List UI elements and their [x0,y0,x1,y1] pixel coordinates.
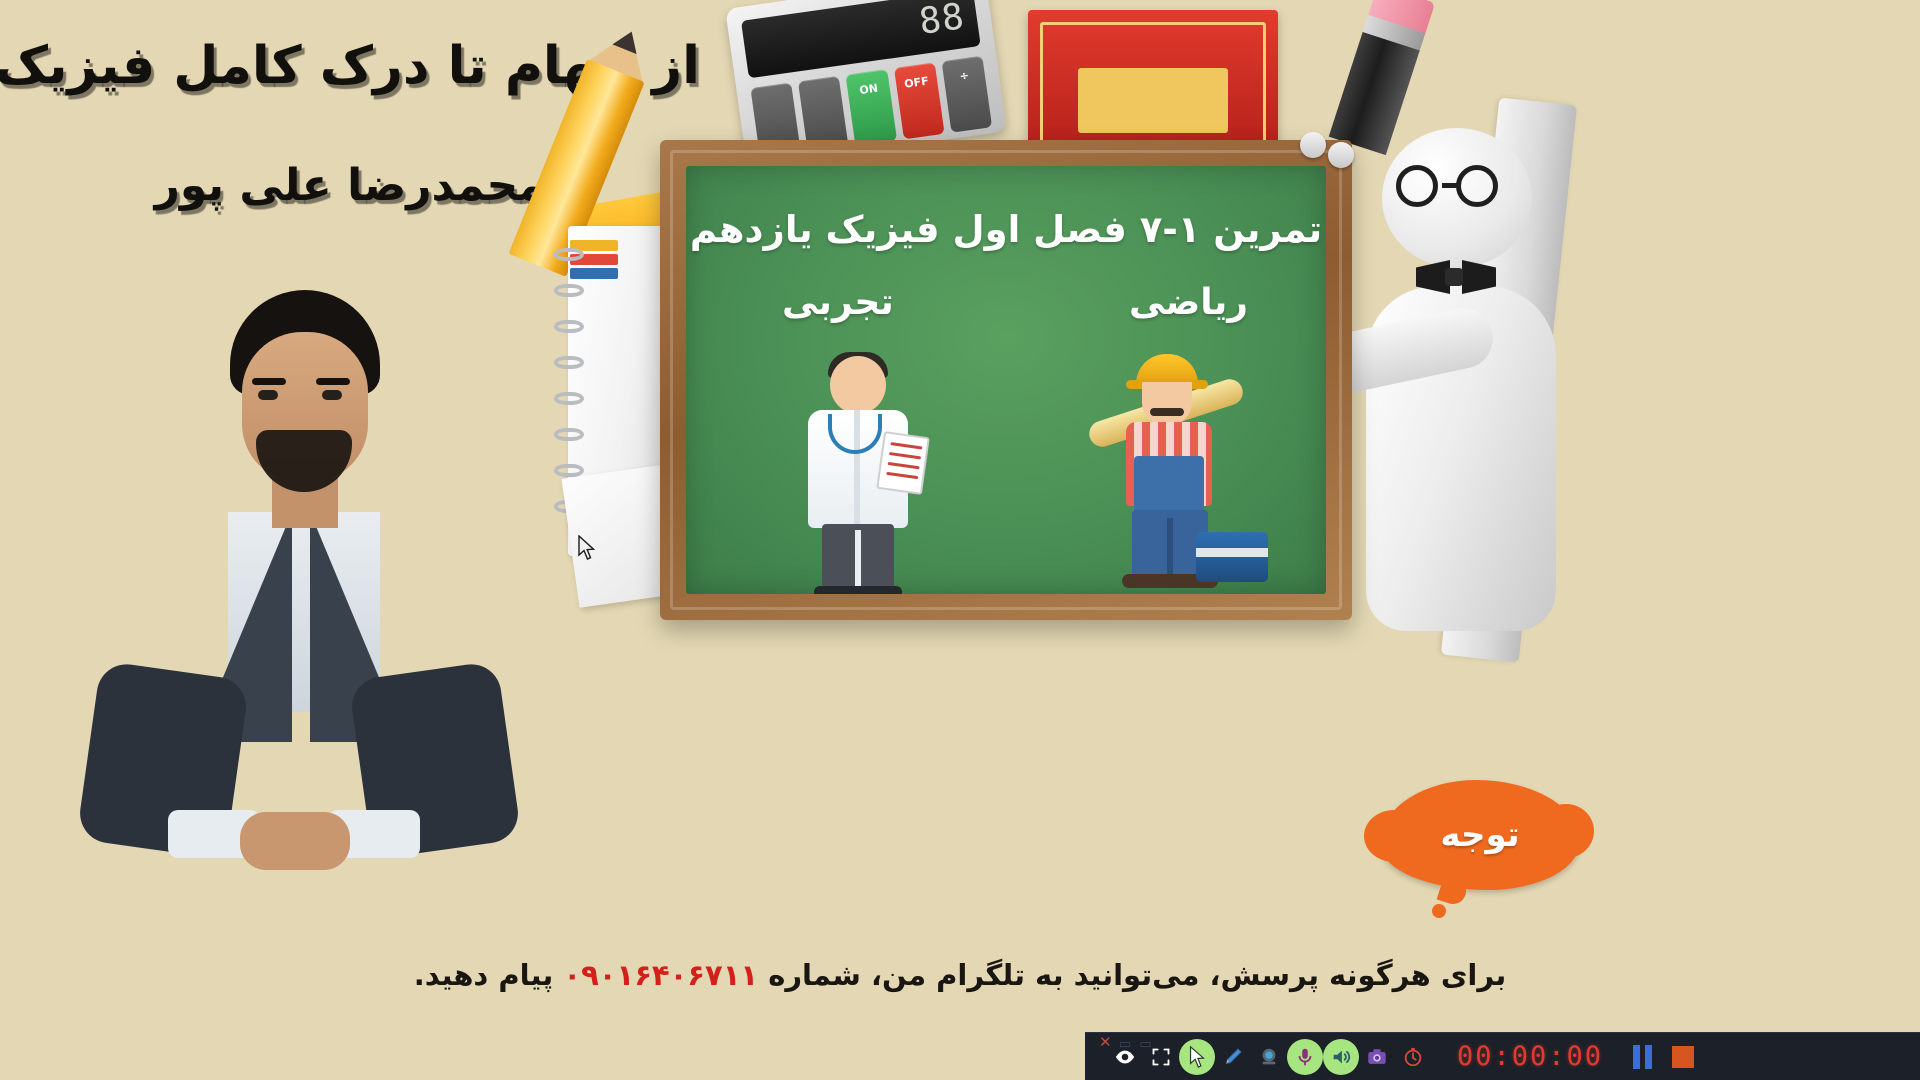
engineer-illustration [1076,346,1266,594]
webcam-icon[interactable] [1251,1039,1287,1075]
footer-text-before: برای هرگونه پرسش، می‌توانید به تلگرام من… [768,958,1506,992]
doctor-illustration [784,356,934,594]
calculator-off-key: OFF [894,62,940,103]
cursor-icon[interactable] [1179,1039,1215,1075]
pencil-icon[interactable] [1215,1039,1251,1075]
chalkboard: تمرین ۱-۷ فصل اول فیزیک یازدهم ریاضی تجر… [660,140,1352,620]
footer-contact-line: برای هرگونه پرسش، می‌توانید به تلگرام من… [0,958,1920,992]
calculator-divide-key: ÷ [941,56,987,97]
red-book-prop [1028,10,1278,155]
mouse-cursor-icon [578,535,596,561]
recording-timer: 00:00:00 [1457,1041,1603,1072]
attention-label: توجه [1380,780,1580,890]
calculator-on-key: ON [846,69,892,110]
stop-button[interactable] [1672,1046,1694,1068]
chalkboard-surface: تمرین ۱-۷ فصل اول فیزیک یازدهم ریاضی تجر… [686,166,1326,594]
pause-button[interactable] [1633,1045,1652,1069]
mascot-figure [1330,110,1590,630]
microphone-icon[interactable] [1287,1039,1323,1075]
speaker-icon[interactable] [1323,1039,1359,1075]
calculator-display: 88 [917,0,968,43]
crop-icon[interactable] [1143,1039,1179,1075]
screen-recorder-toolbar[interactable]: ✕ ▭ ▭ [1085,1032,1920,1080]
clock-icon[interactable] [1395,1039,1431,1075]
chalkboard-label-experimental: تجربی [782,282,894,323]
slide-canvas: از ابهام تا درک کامل فیزیک محمدرضا علی پ… [0,0,1920,1080]
camera-icon[interactable] [1359,1039,1395,1075]
footer-text-after: پیام دهید. [414,958,554,992]
chalkboard-label-math: ریاضی [1129,282,1248,323]
eye-icon[interactable] [1107,1039,1143,1075]
attention-callout: توجه [1380,780,1580,890]
footer-phone-number: ۰۹۰۱۶۴۰۶۷۱۱ [563,958,758,992]
chalkboard-title: تمرین ۱-۷ فصل اول فیزیک یازدهم [686,208,1326,251]
